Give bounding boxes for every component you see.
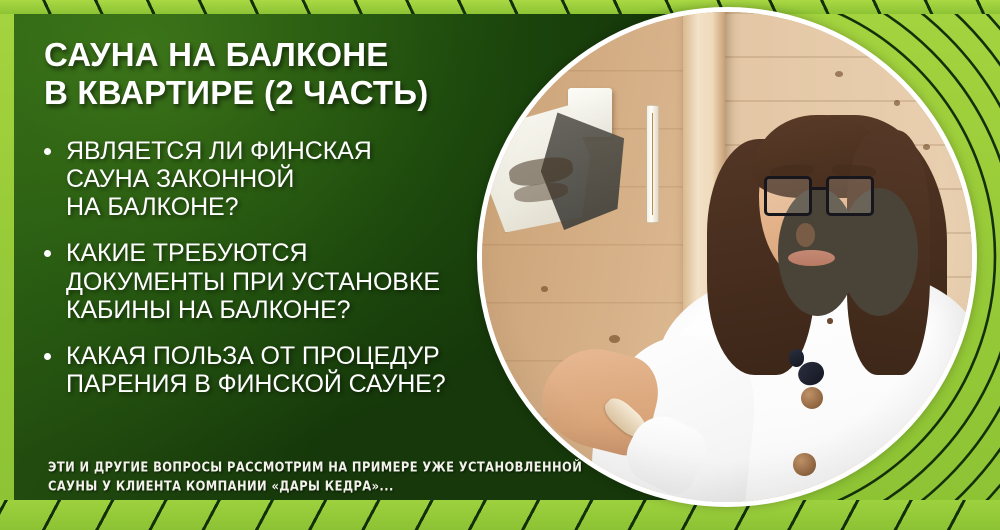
bullet-line: САУНА ЗАКОННОЙ [66, 165, 564, 193]
bottom-stripe-band [0, 500, 1000, 530]
bullet-line: КАКАЯ ПОЛЬЗА ОТ ПРОЦЕДУР [66, 342, 564, 370]
footnote: ЭТИ И ДРУГИЕ ВОПРОСЫ РАССМОТРИМ НА ПРИМЕ… [48, 458, 578, 495]
bullet-line: КАКИЕ ТРЕБУЮТСЯ [66, 239, 564, 267]
bullet-line: ДОКУМЕНТЫ ПРИ УСТАНОВКЕ [66, 268, 564, 296]
glasses-bridge [811, 187, 826, 190]
lips [788, 250, 835, 266]
list-item: КАКИЕ ТРЕБУЮТСЯ ДОКУМЕНТЫ ПРИ УСТАНОВКЕ … [44, 239, 564, 324]
lens-left [764, 176, 813, 216]
list-item: КАКАЯ ПОЛЬЗА ОТ ПРОЦЕДУР ПАРЕНИЯ В ФИНСК… [44, 342, 564, 399]
wooden-button-bottom [793, 453, 816, 476]
title-line: В КВАРТИРЕ (2 ЧАСТЬ) [44, 74, 564, 112]
title-line: САУНА НА БАЛКОНЕ [44, 36, 564, 74]
bullet-dot-icon [44, 148, 51, 155]
bullet-line: НА БАЛКОНЕ? [66, 193, 564, 221]
page-title: САУНА НА БАЛКОНЕ В КВАРТИРЕ (2 ЧАСТЬ) [44, 36, 564, 113]
list-item: ЯВЛЯЕТСЯ ЛИ ФИНСКАЯ САУНА ЗАКОННОЙ НА БА… [44, 137, 564, 222]
eyeglasses [764, 176, 874, 216]
bullet-dot-icon [44, 250, 51, 257]
sauna-promo-banner: САУНА НА БАЛКОНЕ В КВАРТИРЕ (2 ЧАСТЬ) ЯВ… [0, 0, 1000, 530]
bullet-line: ЯВЛЯЕТСЯ ЛИ ФИНСКАЯ [66, 137, 564, 165]
bullet-line: ПАРЕНИЯ В ФИНСКОЙ САУНЕ? [66, 370, 564, 398]
question-list: ЯВЛЯЕТСЯ ЛИ ФИНСКАЯ САУНА ЗАКОННОЙ НА БА… [44, 137, 564, 399]
bullet-line: КАБИНЫ НА БАЛКОНЕ? [66, 296, 564, 324]
bullet-dot-icon [44, 353, 51, 360]
footnote-line: ЭТИ И ДРУГИЕ ВОПРОСЫ РАССМОТРИМ НА ПРИМЕ… [48, 458, 578, 477]
footnote-line: САУНЫ У КЛИЕНТА КОМПАНИИ «ДАРЫ КЕДРА»... [48, 477, 578, 496]
text-content: САУНА НА БАЛКОНЕ В КВАРТИРЕ (2 ЧАСТЬ) ЯВ… [44, 36, 564, 417]
lens-right [826, 176, 875, 216]
mole [827, 318, 832, 323]
